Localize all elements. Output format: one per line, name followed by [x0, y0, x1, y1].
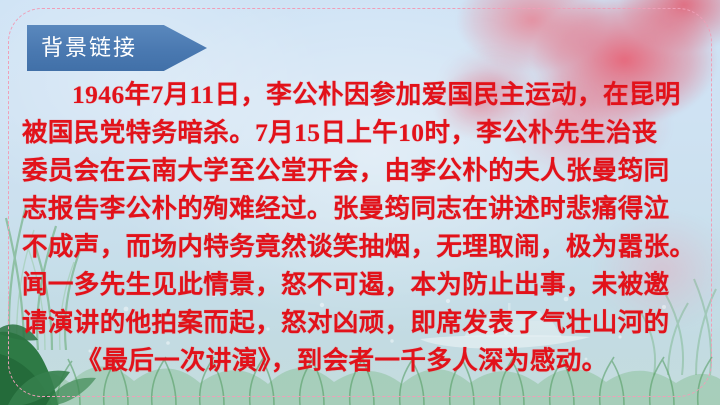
- body-paragraph: 1946年7月11日，李公朴因参加爱国民主运动，在昆明 被国民党特务暗杀。7月1…: [22, 76, 702, 380]
- section-header-banner: 背景链接: [27, 25, 207, 71]
- paragraph-line: 志报告李公朴的殉难经过。张曼筠同志在讲述时悲痛得泣: [22, 190, 702, 228]
- paragraph-line: 请演讲的他拍案而起，怒对凶顽，即席发表了气壮山河的: [22, 304, 702, 342]
- paragraph-line: 委员会在云南大学至公堂开会，由李公朴的夫人张曼筠同: [22, 152, 702, 190]
- paragraph-line: 不成声，而场内特务竟然谈笑抽烟，无理取闹，极为嚣张。: [22, 228, 702, 266]
- paragraph-line: 1946年7月11日，李公朴因参加爱国民主运动，在昆明: [22, 76, 702, 114]
- section-header-label: 背景链接: [27, 37, 137, 59]
- paragraph-line: 《最后一次讲演》，到会者一千多人深为感动。: [22, 342, 702, 380]
- paragraph-line: 被国民党特务暗杀。7月15日上午10时，李公朴先生治丧: [22, 114, 702, 152]
- slide-canvas: 背景链接 1946年7月11日，李公朴因参加爱国民主运动，在昆明 被国民党特务暗…: [0, 0, 720, 405]
- paragraph-line: 闻一多先生见此情景，怒不可遏，本为防止出事，未被邀: [22, 266, 702, 304]
